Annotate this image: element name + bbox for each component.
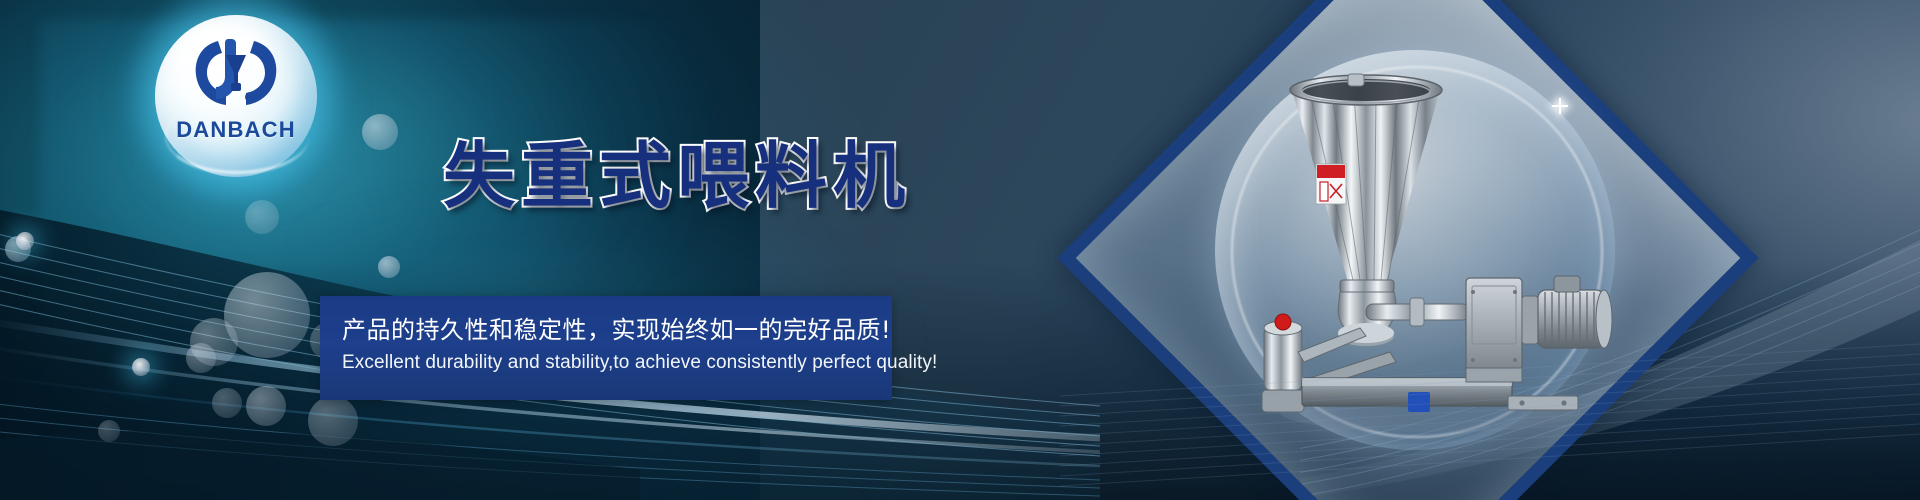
tagline-english: Excellent durability and stability,to ac…	[342, 352, 937, 374]
page-title: 失重式喂料机	[443, 117, 911, 222]
tagline-panel: 产品的持久性和稳定性，实现始终如一的完好品质! Excellent durabi…	[320, 296, 892, 400]
product-banner: DANBACH 失重式喂料机 产品的持久性和稳定性，实现始终如一的完好品质! E…	[0, 0, 1920, 500]
hatch-lines-right	[1060, 300, 1920, 500]
brand-logo[interactable]: DANBACH	[155, 15, 317, 177]
danbach-monogram-icon	[188, 31, 284, 115]
logo-wordmark: DANBACH	[155, 117, 317, 143]
tagline-chinese: 产品的持久性和稳定性，实现始终如一的完好品质!	[342, 310, 891, 345]
